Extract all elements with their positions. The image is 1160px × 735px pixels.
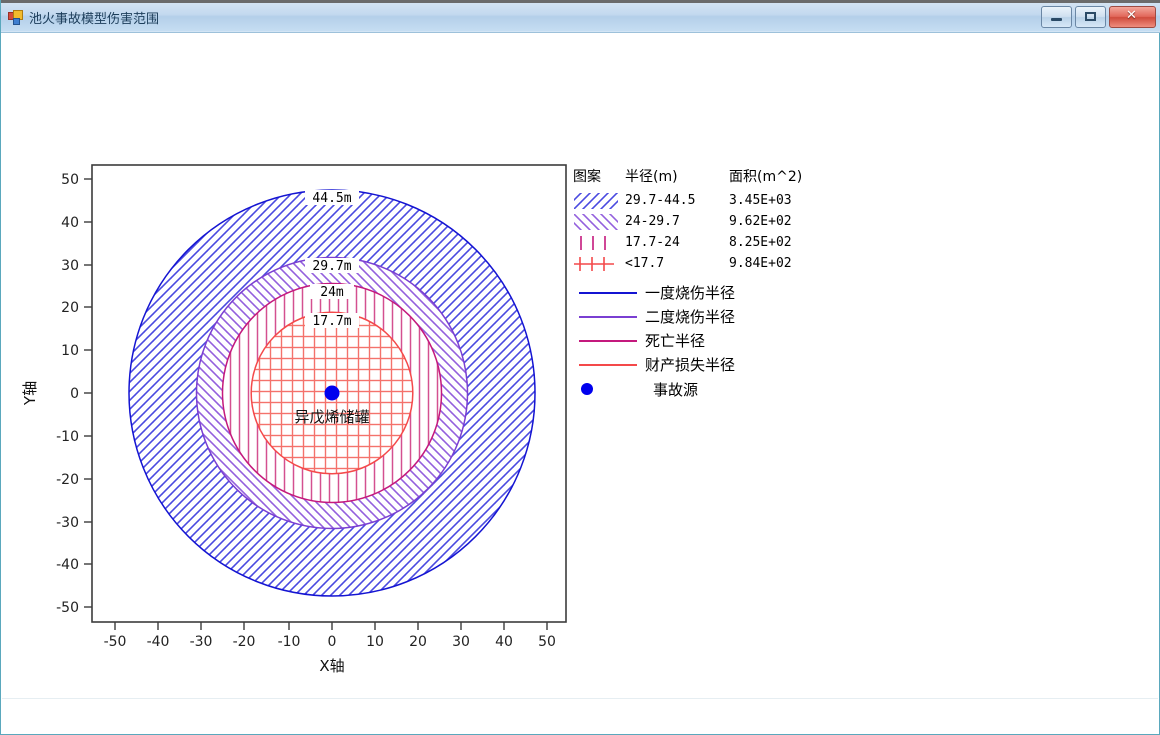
legend-area-value: 9.62E+02 xyxy=(729,214,803,229)
legend-line-label: 二度烧伤半径 xyxy=(639,306,735,327)
minimize-button[interactable] xyxy=(1041,6,1072,28)
legend-line-label: 财产损失半径 xyxy=(639,354,735,375)
legend-header-row: 图案 半径(m) 面积(m^2) xyxy=(573,166,803,186)
window-title: 池火事故模型伤害范围 xyxy=(29,8,159,27)
circle-label-17-7m: 17.7m xyxy=(312,314,351,329)
circle-label-24m: 24m xyxy=(320,285,344,300)
svg-text:10: 10 xyxy=(366,634,384,650)
accident-source-marker xyxy=(325,386,340,401)
legend-line-first-degree-burn: 一度烧伤半径 xyxy=(573,280,803,304)
title-bar: 池火事故模型伤害范围 ✕ xyxy=(1,0,1160,33)
legend-line-second-degree-burn: 二度烧伤半径 xyxy=(573,304,803,328)
y-axis-ticks: 50 40 30 20 10 0 -10 -20 -30 -40 -50 xyxy=(56,172,92,616)
legend-radius-value: 24-29.7 xyxy=(625,214,729,229)
svg-text:40: 40 xyxy=(61,215,79,231)
maximize-button[interactable] xyxy=(1075,6,1106,28)
circle-label-44-5m: 44.5m xyxy=(312,191,351,206)
svg-text:-50: -50 xyxy=(104,634,127,650)
legend-radius-value: <17.7 xyxy=(625,256,729,271)
svg-text:50: 50 xyxy=(538,634,556,650)
accident-source-dot-icon xyxy=(573,381,639,397)
swatch-vertical-lines-icon xyxy=(573,234,625,252)
svg-text:-50: -50 xyxy=(56,600,79,616)
circle-label-29-7m: 29.7m xyxy=(312,259,351,274)
legend-line-entries: 一度烧伤半径 二度烧伤半径 死亡半径 xyxy=(573,280,803,402)
svg-text:20: 20 xyxy=(61,300,79,316)
svg-text:-30: -30 xyxy=(190,634,213,650)
svg-text:0: 0 xyxy=(70,386,79,402)
legend-area-value: 3.45E+03 xyxy=(729,193,803,208)
line-swatch-red-icon xyxy=(573,357,639,371)
svg-text:-10: -10 xyxy=(278,634,301,650)
app-window-icon xyxy=(8,10,23,25)
legend-header-area: 面积(m^2) xyxy=(729,166,803,186)
svg-text:-10: -10 xyxy=(56,429,79,445)
legend-row-first-degree-burn: 29.7-44.5 3.45E+03 xyxy=(573,190,803,211)
legend-header-pattern: 图案 xyxy=(573,166,625,186)
line-swatch-magenta-icon xyxy=(573,333,639,347)
window-controls: ✕ xyxy=(1041,6,1156,28)
icon-blue-square xyxy=(13,18,20,25)
client-area: 44.5m 29.7m 24m 17.7m 异戊烯储罐 xyxy=(1,34,1159,722)
swatch-forward-diagonal-icon xyxy=(573,192,625,210)
close-icon: ✕ xyxy=(1110,7,1153,25)
legend-area-value: 9.84E+02 xyxy=(729,256,803,271)
legend-header-radius: 半径(m) xyxy=(625,166,729,186)
legend-area-value: 8.25E+02 xyxy=(729,235,803,250)
legend-row-second-degree-burn: 24-29.7 9.62E+02 xyxy=(573,211,803,232)
svg-text:30: 30 xyxy=(452,634,470,650)
legend-row-death: 17.7-24 8.25E+02 xyxy=(573,232,803,253)
swatch-backward-diagonal-icon xyxy=(573,213,625,231)
center-tank-label: 异戊烯储罐 xyxy=(294,408,369,426)
svg-text:30: 30 xyxy=(61,258,79,274)
svg-text:-30: -30 xyxy=(56,515,79,531)
legend-source-label: 事故源 xyxy=(639,379,698,400)
svg-text:20: 20 xyxy=(409,634,427,650)
svg-text:50: 50 xyxy=(61,172,79,188)
svg-text:0: 0 xyxy=(328,634,337,650)
app-window: 池火事故模型伤害范围 ✕ xyxy=(0,0,1160,735)
legend-line-label: 一度烧伤半径 xyxy=(639,282,735,303)
swatch-crosshatch-icon xyxy=(573,255,625,273)
svg-text:-40: -40 xyxy=(147,634,170,650)
status-bar xyxy=(2,698,1158,721)
svg-text:-20: -20 xyxy=(233,634,256,650)
legend-line-property-loss: 财产损失半径 xyxy=(573,352,803,376)
line-swatch-purple-icon xyxy=(573,309,639,323)
minimize-icon xyxy=(1051,18,1062,21)
chart-legend: 图案 半径(m) 面积(m^2) 29.7-44.5 3.45E+03 xyxy=(573,166,803,402)
legend-row-property-loss: <17.7 9.84E+02 xyxy=(573,253,803,274)
legend-accident-source: 事故源 xyxy=(573,376,803,402)
legend-radius-value: 17.7-24 xyxy=(625,235,729,250)
line-swatch-blue-icon xyxy=(573,285,639,299)
legend-line-label: 死亡半径 xyxy=(639,330,705,351)
svg-text:10: 10 xyxy=(61,343,79,359)
x-axis-title: X轴 xyxy=(319,657,344,675)
legend-radius-value: 29.7-44.5 xyxy=(625,193,729,208)
svg-text:40: 40 xyxy=(495,634,513,650)
x-axis-ticks: -50 -40 -30 -20 -10 0 10 20 30 40 50 xyxy=(104,622,556,650)
close-button[interactable]: ✕ xyxy=(1109,6,1156,28)
svg-text:-40: -40 xyxy=(56,557,79,573)
legend-line-death: 死亡半径 xyxy=(573,328,803,352)
svg-text:-20: -20 xyxy=(56,472,79,488)
y-axis-title: Y轴 xyxy=(21,381,39,406)
title-bar-top-edge xyxy=(1,0,1160,3)
maximize-icon xyxy=(1085,12,1096,21)
